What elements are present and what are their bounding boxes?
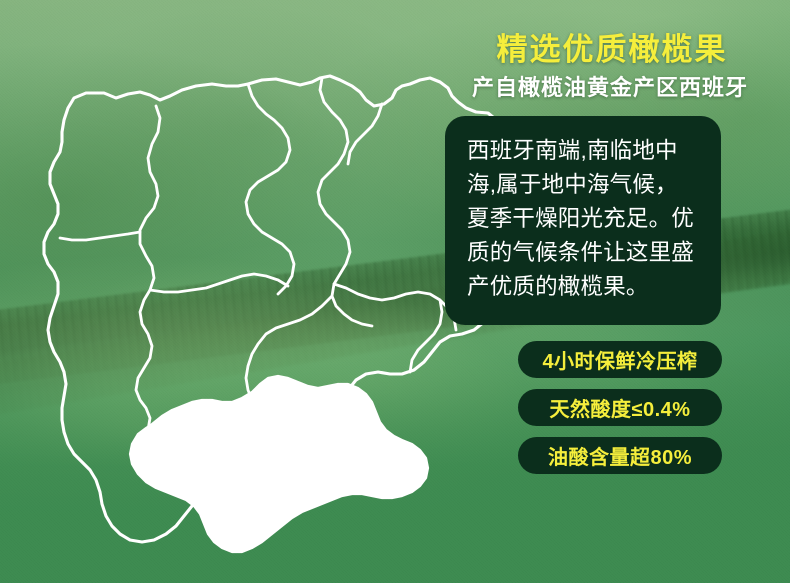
map-region-line-5 (60, 232, 140, 240)
feature-badge: 天然酸度≤0.4% (518, 389, 722, 426)
promo-poster: 精选优质橄榄果 产自橄榄油黄金产区西班牙 西班牙南端,南临地中海,属于地中海气候… (0, 0, 790, 583)
map-region-line-3 (348, 104, 382, 164)
map-region-line-6 (150, 274, 288, 292)
description-panel: 西班牙南端,南临地中海,属于地中海气候，夏季干燥阳光充足。优质的气候条件让这里盛… (445, 116, 721, 325)
map-region-line-7 (334, 284, 456, 330)
description-text: 西班牙南端,南临地中海,属于地中海气候，夏季干燥阳光充足。优质的气候条件让这里盛… (467, 134, 699, 304)
page-title: 精选优质橄榄果 (462, 24, 762, 69)
feature-badge: 4小时保鲜冷压榨 (518, 341, 722, 378)
map-region-line-1 (134, 106, 160, 462)
page-subtitle: 产自橄榄油黄金产区西班牙 (450, 70, 770, 102)
feature-badge-list: 4小时保鲜冷压榨 天然酸度≤0.4% 油酸含量超80% (518, 341, 722, 474)
map-region-line-4 (246, 84, 294, 294)
feature-badge: 油酸含量超80% (518, 437, 722, 474)
